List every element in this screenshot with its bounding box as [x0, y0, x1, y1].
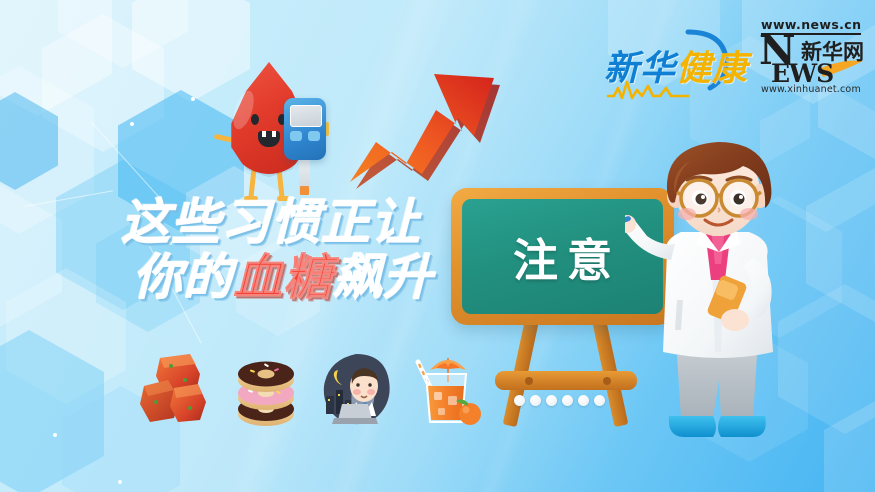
ellipsis-dots: [514, 395, 605, 406]
drop-eye-left: [251, 114, 259, 125]
hex-dot: [53, 433, 57, 437]
braised-pork-icon: [140, 352, 212, 428]
glucose-meter-icon: [284, 98, 326, 198]
hex-dot: [118, 480, 122, 484]
habit-icons-row: [140, 352, 605, 428]
donuts-icon: [230, 352, 302, 428]
news-logo-chinese: 新华网: [801, 36, 864, 66]
staying-up-late-icon: [320, 352, 392, 428]
headline-line-1: 这些习惯正让: [121, 196, 433, 249]
ellipsis-dot: [594, 395, 605, 406]
xinhua-health-wordmark: 新华健康: [604, 40, 748, 91]
ellipsis-dot: [546, 395, 557, 406]
meter-button-left: [290, 131, 302, 141]
xinhua-health-logo[interactable]: 新华健康: [596, 26, 756, 104]
headline-line-2: 你的血糖飙升: [133, 251, 433, 304]
meter-button-right: [308, 131, 320, 141]
blackboard-text: 注意: [504, 224, 621, 289]
news-logo-bottom-url: www.xinhuanet.com: [761, 84, 861, 95]
headline-line-2-prefix: 你的: [133, 249, 233, 306]
xinhuanet-logo[interactable]: www.news.cn N EWS 新华网 www.xinhuanet.com: [757, 17, 865, 97]
logo-text-health: 健康: [676, 49, 748, 89]
poster-canvas: 这些习惯正让 你的血糖飙升 注意: [0, 0, 875, 492]
headline-line-1-text: 这些习惯正让: [121, 194, 421, 251]
headline-block: 这些习惯正让 你的血糖飙升: [121, 196, 433, 304]
logo-text-xinhua: 新华: [604, 49, 676, 89]
hex-dot: [191, 97, 195, 101]
doctor-character: [625, 140, 810, 450]
blood-drop-character: [222, 62, 342, 202]
hex-dot: [130, 122, 134, 126]
ellipsis-dot: [562, 395, 573, 406]
sugary-drink-icon: [410, 352, 482, 428]
headline-highlight: 血糖: [233, 249, 333, 306]
ellipsis-dot: [578, 395, 589, 406]
meter-body: [284, 98, 326, 160]
ellipsis-dot: [514, 395, 525, 406]
headline-line-2-suffix: 飙升: [333, 249, 433, 306]
ellipsis-dot: [530, 395, 541, 406]
meter-display: [290, 105, 322, 127]
rising-trend-arrow: [348, 52, 513, 207]
